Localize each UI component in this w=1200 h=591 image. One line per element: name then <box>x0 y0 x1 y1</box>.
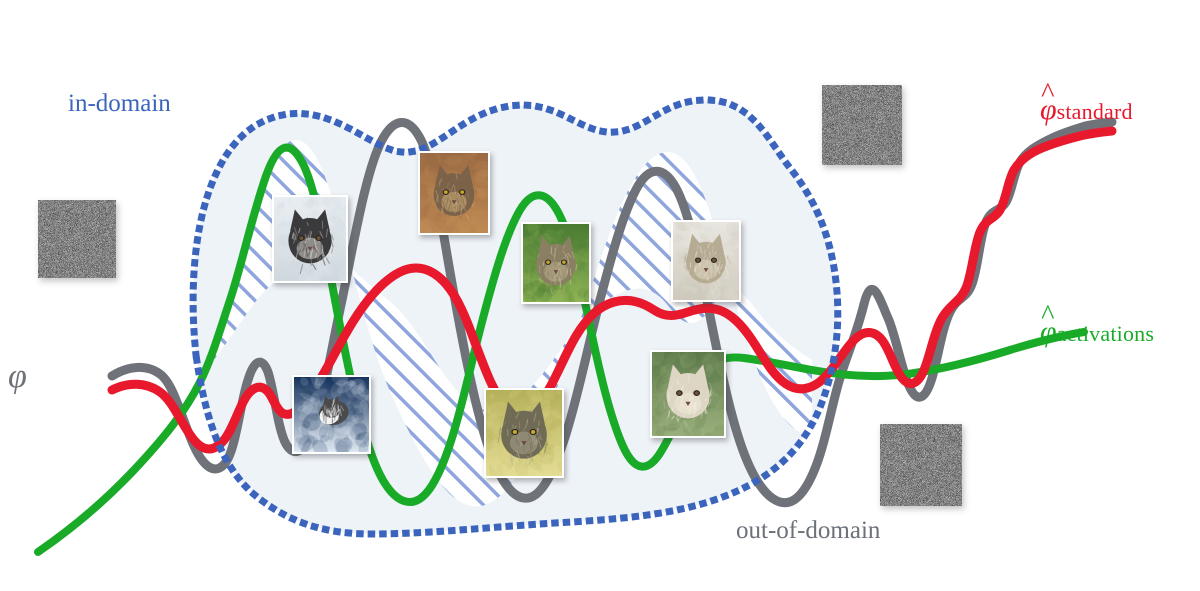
tabby-cat-brown-tile <box>418 151 490 235</box>
phi-hat-activations-symbol: ^φ <box>1040 317 1057 347</box>
phi-hat-standard-subscript: standard <box>1057 99 1133 124</box>
figure-canvas: in-domain out-of-domain φ ^φstandard ^φa… <box>0 0 1200 591</box>
tabby-cat-yellow-tile <box>484 388 564 478</box>
shih-tzu-tile <box>671 220 741 302</box>
phi-hat-activations-subscript: activations <box>1057 321 1155 346</box>
maltese-tile <box>650 350 726 438</box>
hat-accent-icon: ^ <box>1041 80 1054 109</box>
figure-svg <box>0 0 1200 591</box>
phi-hat-standard-label: ^φstandard <box>1040 95 1133 125</box>
noise-tile-top-right <box>822 85 902 165</box>
noise-tile-bottom-right <box>880 424 962 506</box>
noise-tile-left <box>38 200 116 278</box>
phi-hat-activations-label: ^φactivations <box>1040 317 1154 347</box>
husky-running-tile <box>292 375 371 454</box>
phi-true-label: φ <box>8 358 27 396</box>
hat-accent-icon: ^ <box>1041 302 1054 331</box>
tabby-cat-grass-tile <box>521 222 591 304</box>
phi-hat-standard-symbol: ^φ <box>1040 95 1057 125</box>
husky-portrait-tile <box>272 195 348 283</box>
